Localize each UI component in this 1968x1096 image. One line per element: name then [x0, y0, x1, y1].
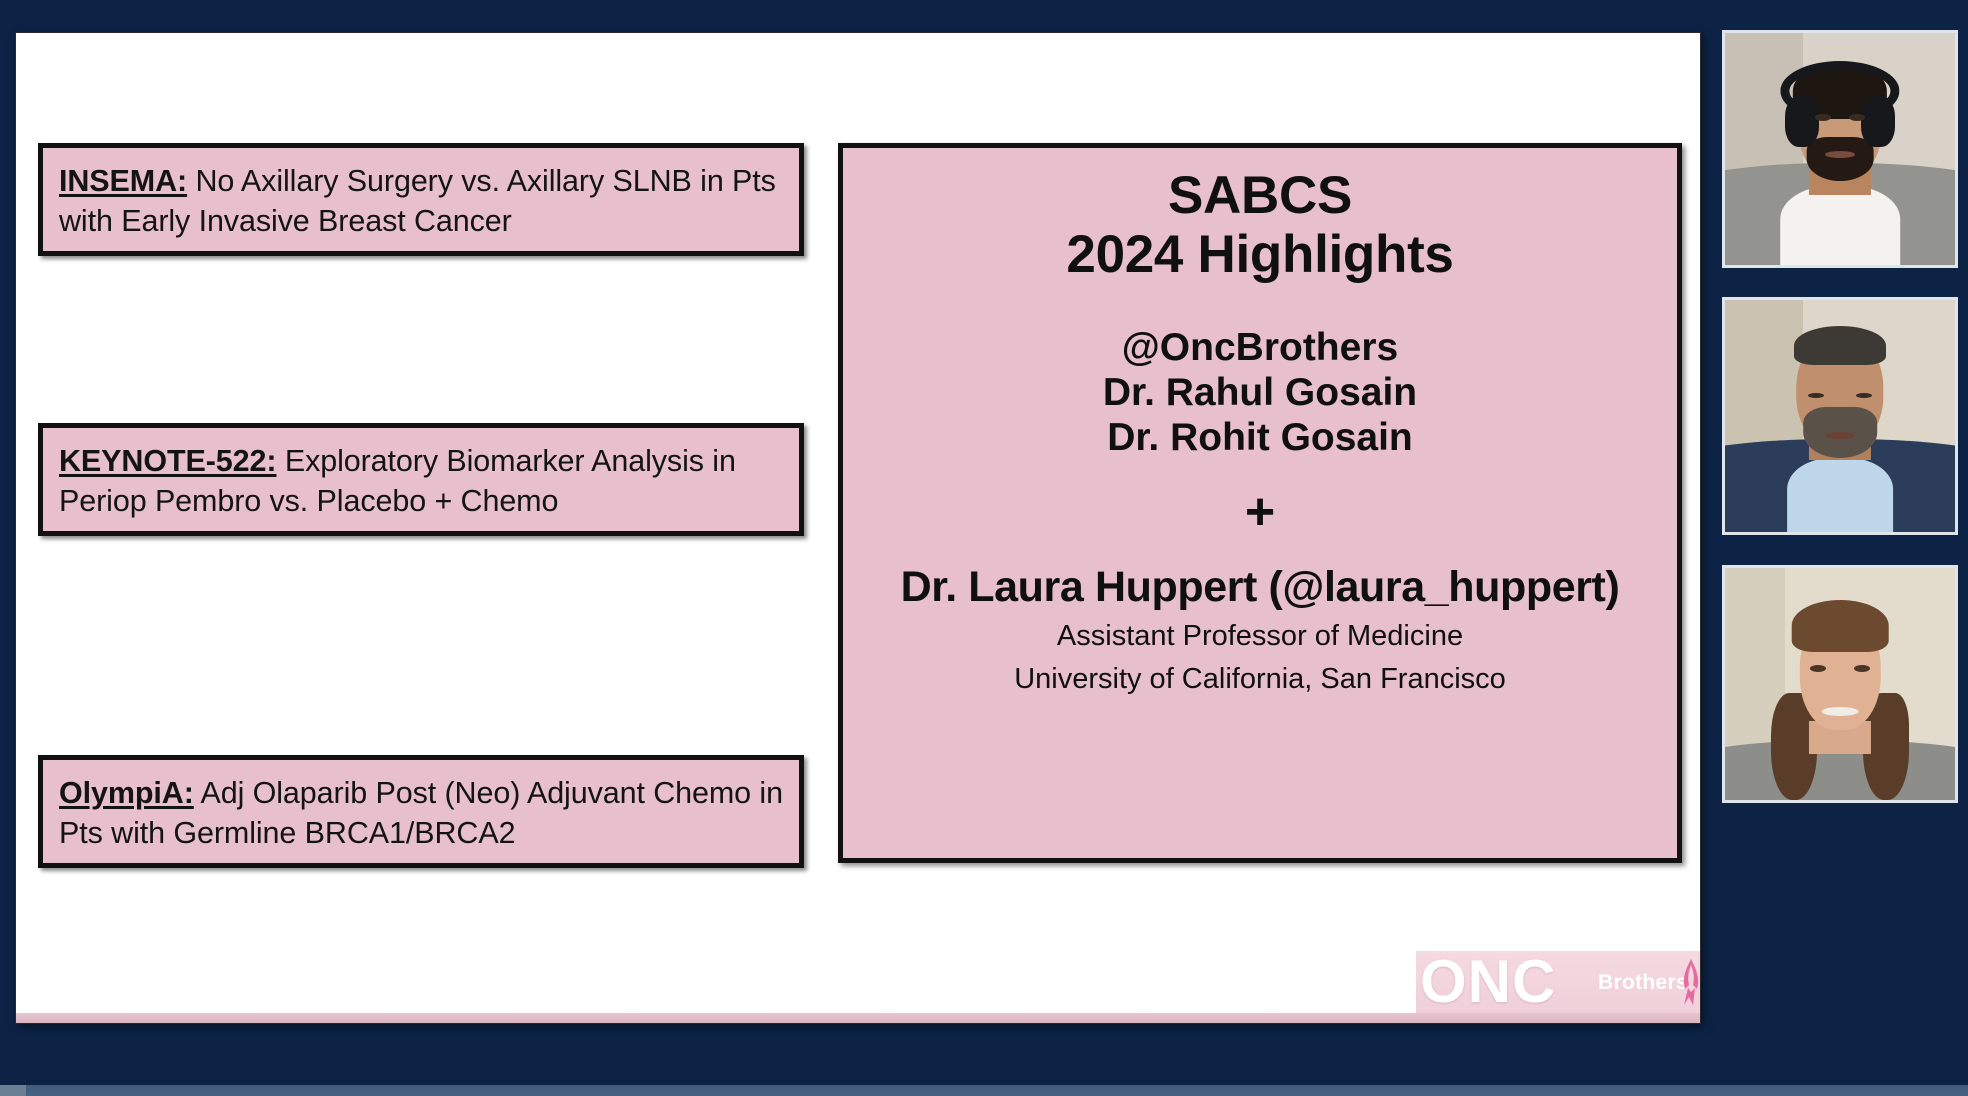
participant-tile-1[interactable]: [1722, 30, 1958, 268]
pink-ribbon-icon: [1676, 957, 1700, 1007]
headphone-left-cup: [1785, 96, 1820, 147]
hair-shape: [1792, 600, 1889, 651]
beard-shape: [1807, 137, 1874, 181]
participant-tile-2[interactable]: [1722, 297, 1958, 535]
guest-name-label: Dr. Laura Huppert (@laura_huppert): [843, 564, 1677, 611]
shirt-shape: [1780, 186, 1900, 265]
participant-video-3: [1725, 568, 1955, 800]
trial-name-label: KEYNOTE-522:: [59, 444, 276, 478]
mouth-shape: [1825, 432, 1855, 439]
host-name-1: Dr. Rahul Gosain: [843, 370, 1677, 415]
video-conference-stage: INSEMA: No Axillary Surgery vs. Axillary…: [0, 0, 1968, 1096]
taskbar[interactable]: [0, 1085, 1968, 1096]
participant-video-1: [1725, 33, 1955, 265]
eye-left: [1808, 393, 1824, 398]
eye-right: [1856, 393, 1872, 398]
social-handle-label: @OncBrothers: [843, 325, 1677, 370]
headphone-right-cup: [1861, 96, 1896, 147]
title-panel: SABCS 2024 Highlights @OncBrothers Dr. R…: [838, 143, 1682, 863]
guest-title-label: Assistant Professor of Medicine: [843, 618, 1677, 655]
study-box-text: KEYNOTE-522: Exploratory Biomarker Analy…: [59, 442, 783, 521]
study-box-olympia[interactable]: OlympiA: Adj Olaparib Post (Neo) Adjuvan…: [38, 755, 804, 868]
participant-video-2: [1725, 300, 1955, 532]
shirt-shape: [1787, 458, 1893, 532]
title-spacer-2: [843, 538, 1677, 564]
shared-slide[interactable]: INSEMA: No Axillary Surgery vs. Axillary…: [16, 33, 1700, 1023]
mouth-shape: [1825, 151, 1855, 158]
host-name-2: Dr. Rohit Gosain: [843, 415, 1677, 460]
taskbar-left-segment: [0, 1085, 26, 1096]
study-box-text: INSEMA: No Axillary Surgery vs. Axillary…: [59, 162, 783, 241]
logo-primary-text: ONC: [1420, 951, 1556, 1013]
plus-symbol: +: [843, 486, 1677, 538]
logo-secondary-text: Brothers: [1598, 971, 1688, 995]
trial-name-label: INSEMA:: [59, 164, 187, 198]
eye-left: [1815, 114, 1831, 121]
slide-title-line-1: SABCS: [843, 166, 1677, 225]
title-spacer: [843, 285, 1677, 325]
onc-brothers-logo: ONC Brothers: [1416, 951, 1700, 1013]
study-box-keynote-522[interactable]: KEYNOTE-522: Exploratory Biomarker Analy…: [38, 423, 804, 536]
guest-affiliation-label: University of California, San Francisco: [843, 661, 1677, 698]
hair-shape: [1794, 326, 1886, 365]
study-box-text: OlympiA: Adj Olaparib Post (Neo) Adjuvan…: [59, 774, 783, 853]
trial-name-label: OlympiA:: [59, 776, 194, 810]
slide-title-line-2: 2024 Highlights: [843, 225, 1677, 284]
study-box-insema[interactable]: INSEMA: No Axillary Surgery vs. Axillary…: [38, 143, 804, 256]
slide-bottom-accent-bar: [16, 1013, 1700, 1023]
participant-tile-3[interactable]: [1722, 565, 1958, 803]
